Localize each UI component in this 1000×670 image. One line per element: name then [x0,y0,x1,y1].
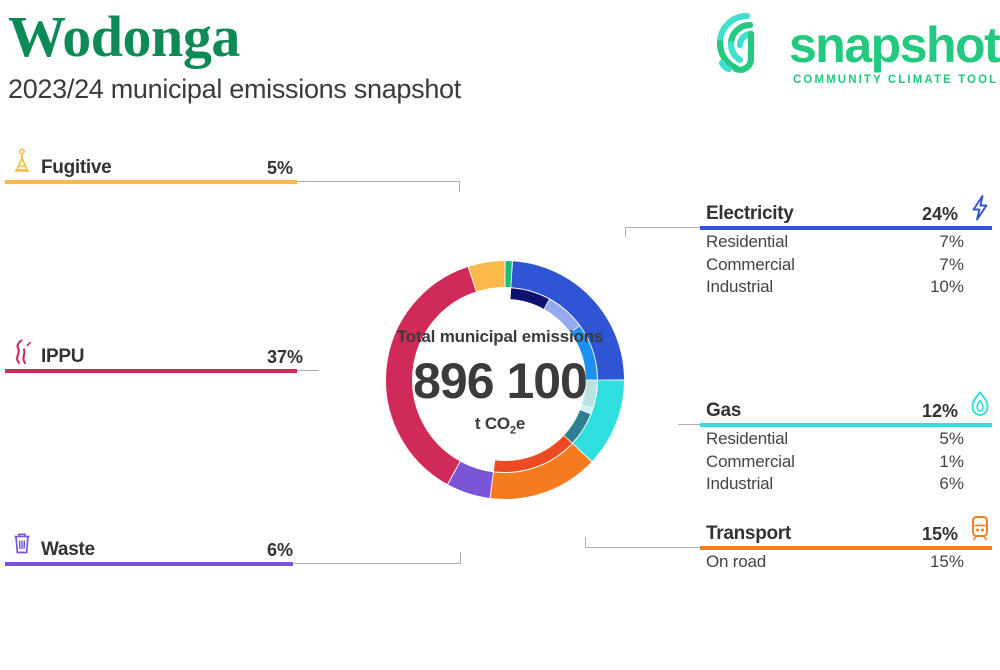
trash-bin-icon [11,531,33,562]
category-waste-connector-v [460,552,461,564]
donut-segment-fugitive[interactable] [473,274,505,279]
flame-icon [968,390,992,423]
logo-tagline: COMMUNITY CLIMATE TOOL [793,74,998,86]
category-electricity-pct: 24% [922,204,958,225]
category-transport-head: Transport 15% [700,518,1000,546]
category-transport-subs: On road 15% [700,552,1000,575]
snapshot-logo: snapshot COMMUNITY CLIMATE TOOL [705,6,1000,92]
sub-label: Residential [706,429,788,449]
spiral-logo-icon [705,8,775,78]
category-waste-label: Waste [41,539,95,561]
category-electricity-head: Electricity 24% [700,198,1000,226]
category-ippu-head: IPPU 37% [5,341,335,369]
category-electricity-rule [700,226,992,230]
category-ippu-label: IPPU [41,346,84,368]
category-transport-rule [700,546,992,550]
smoke-icon [11,339,33,370]
category-gas[interactable]: Gas 12% Residential 5% Commercial 1% Ind… [700,395,1000,497]
unit-pre: t CO [475,414,510,433]
category-transport-connector-v [585,537,586,548]
category-fugitive-label: Fugitive [41,157,111,179]
category-ippu-pct: 37% [267,347,303,368]
donut-center-unit: t CO2e [370,414,630,436]
category-waste-connector-h [293,563,461,564]
category-fugitive-pct: 5% [267,158,293,179]
list-item: Industrial 10% [700,277,1000,300]
category-gas-subs: Residential 5% Commercial 1% Industrial … [700,429,1000,497]
category-electricity-connector-v [625,227,626,237]
category-gas-rule [700,423,992,427]
sub-pct: 10% [928,277,964,297]
sub-pct: 7% [928,232,964,252]
category-transport[interactable]: Transport 15% On road 15% [700,518,1000,575]
list-item: On road 15% [700,552,1000,575]
category-transport-pct: 15% [922,524,958,545]
category-fugitive[interactable]: Fugitive 5% [5,152,475,180]
tram-icon [968,514,992,547]
donut-center-caption: Total municipal emissions [370,327,630,347]
category-waste[interactable]: Waste 6% [5,534,475,562]
donut-sub-segment-electricity-residential[interactable] [511,294,547,304]
sub-pct: 6% [928,474,964,494]
category-transport-label: Transport [706,523,791,545]
category-ippu-connector-h [297,370,319,371]
list-item: Residential 7% [700,232,1000,255]
sub-pct: 15% [928,552,964,572]
category-ippu-rule [5,369,297,373]
donut-segment-waste[interactable] [454,473,491,485]
donut-center-label: Total municipal emissions 896 100 t CO2e [370,327,630,436]
category-gas-pct: 12% [922,401,958,422]
category-electricity-connector-h [625,227,700,228]
category-fugitive-rule [5,180,297,184]
sub-label: Residential [706,232,788,252]
sub-pct: 7% [928,255,964,275]
sub-label: Commercial [706,255,795,275]
sub-label: Industrial [706,277,773,297]
page-title: Wodonga [8,6,240,68]
category-gas-label: Gas [706,400,741,422]
sub-label: On road [706,552,766,572]
category-waste-head: Waste 6% [5,534,475,562]
category-electricity[interactable]: Electricity 24% Residential 7% Commercia… [700,198,1000,300]
category-waste-rule [5,562,293,566]
logo-wordmark: snapshot [789,16,999,74]
sub-pct: 1% [928,452,964,472]
sub-label: Industrial [706,474,773,494]
category-ippu[interactable]: IPPU 37% [5,341,335,369]
unit-post: e [516,414,525,433]
donut-center-value: 896 100 [370,352,630,410]
page-subtitle: 2023/24 municipal emissions snapshot [8,74,461,105]
sub-label: Commercial [706,452,795,472]
sub-pct: 5% [928,429,964,449]
list-item: Industrial 6% [700,474,1000,497]
category-fugitive-connector-h [297,181,460,182]
category-transport-connector-h [585,547,700,548]
category-gas-connector-h [678,424,700,425]
list-item: Commercial 1% [700,452,1000,475]
category-waste-pct: 6% [267,540,293,561]
category-electricity-subs: Residential 7% Commercial 7% Industrial … [700,232,1000,300]
category-gas-head: Gas 12% [700,395,1000,423]
category-electricity-label: Electricity [706,203,794,225]
list-item: Residential 5% [700,429,1000,452]
gas-flare-icon [11,148,33,181]
list-item: Commercial 7% [700,255,1000,278]
category-fugitive-head: Fugitive 5% [5,152,475,180]
infographic-root: Wodonga 2023/24 municipal emissions snap… [0,0,1000,670]
lightning-bolt-icon [968,194,992,227]
category-fugitive-connector-v [459,181,460,192]
